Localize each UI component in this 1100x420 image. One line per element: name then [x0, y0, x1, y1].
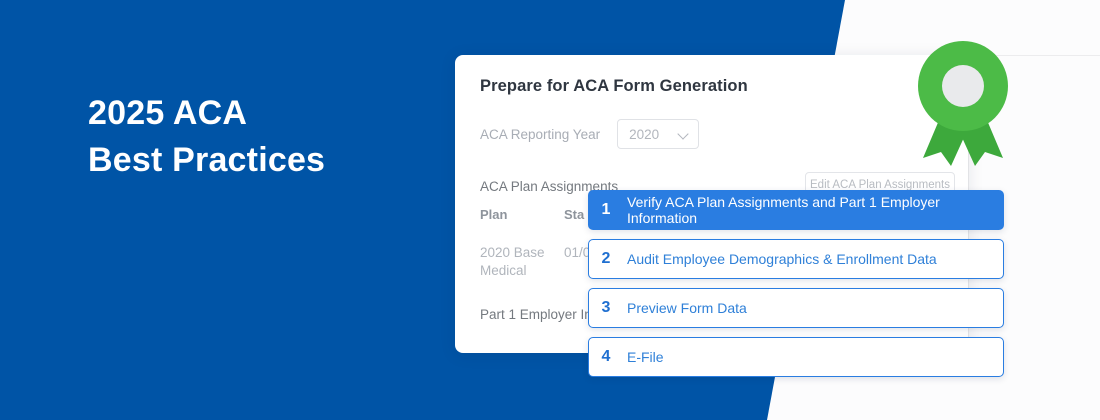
step-item-4[interactable]: 4 E-File — [588, 337, 1004, 377]
step-label: Preview Form Data — [623, 300, 747, 316]
part1-employer-info-label: Part 1 Employer Inf — [480, 307, 596, 322]
card-title: Prepare for ACA Form Generation — [480, 77, 748, 96]
steps-list: 1 Verify ACA Plan Assignments and Part 1… — [588, 190, 1004, 386]
step-label: Audit Employee Demographics & Enrollment… — [623, 251, 937, 267]
reporting-year-label: ACA Reporting Year — [480, 127, 600, 142]
chevron-down-icon — [678, 129, 689, 140]
page-title: 2025 ACA Best Practices — [88, 90, 325, 184]
reporting-year-value: 2020 — [629, 127, 659, 142]
step-number: 1 — [589, 201, 623, 219]
step-label: E-File — [623, 349, 664, 365]
column-header-plan: Plan — [480, 207, 564, 222]
award-ribbon-icon — [915, 38, 1011, 168]
step-label: Verify ACA Plan Assignments and Part 1 E… — [623, 194, 1003, 226]
promo-banner: 2025 ACA Best Practices Prepare for ACA … — [0, 0, 1100, 420]
step-number: 2 — [589, 250, 623, 268]
cell-plan: 2020 Base Medical — [480, 244, 564, 280]
reporting-year-select[interactable]: 2020 — [617, 119, 699, 149]
step-item-3[interactable]: 3 Preview Form Data — [588, 288, 1004, 328]
step-number: 3 — [589, 299, 623, 317]
step-item-1[interactable]: 1 Verify ACA Plan Assignments and Part 1… — [588, 190, 1004, 230]
step-number: 4 — [589, 348, 623, 366]
reporting-year-field: ACA Reporting Year 2020 — [480, 119, 699, 149]
step-item-2[interactable]: 2 Audit Employee Demographics & Enrollme… — [588, 239, 1004, 279]
